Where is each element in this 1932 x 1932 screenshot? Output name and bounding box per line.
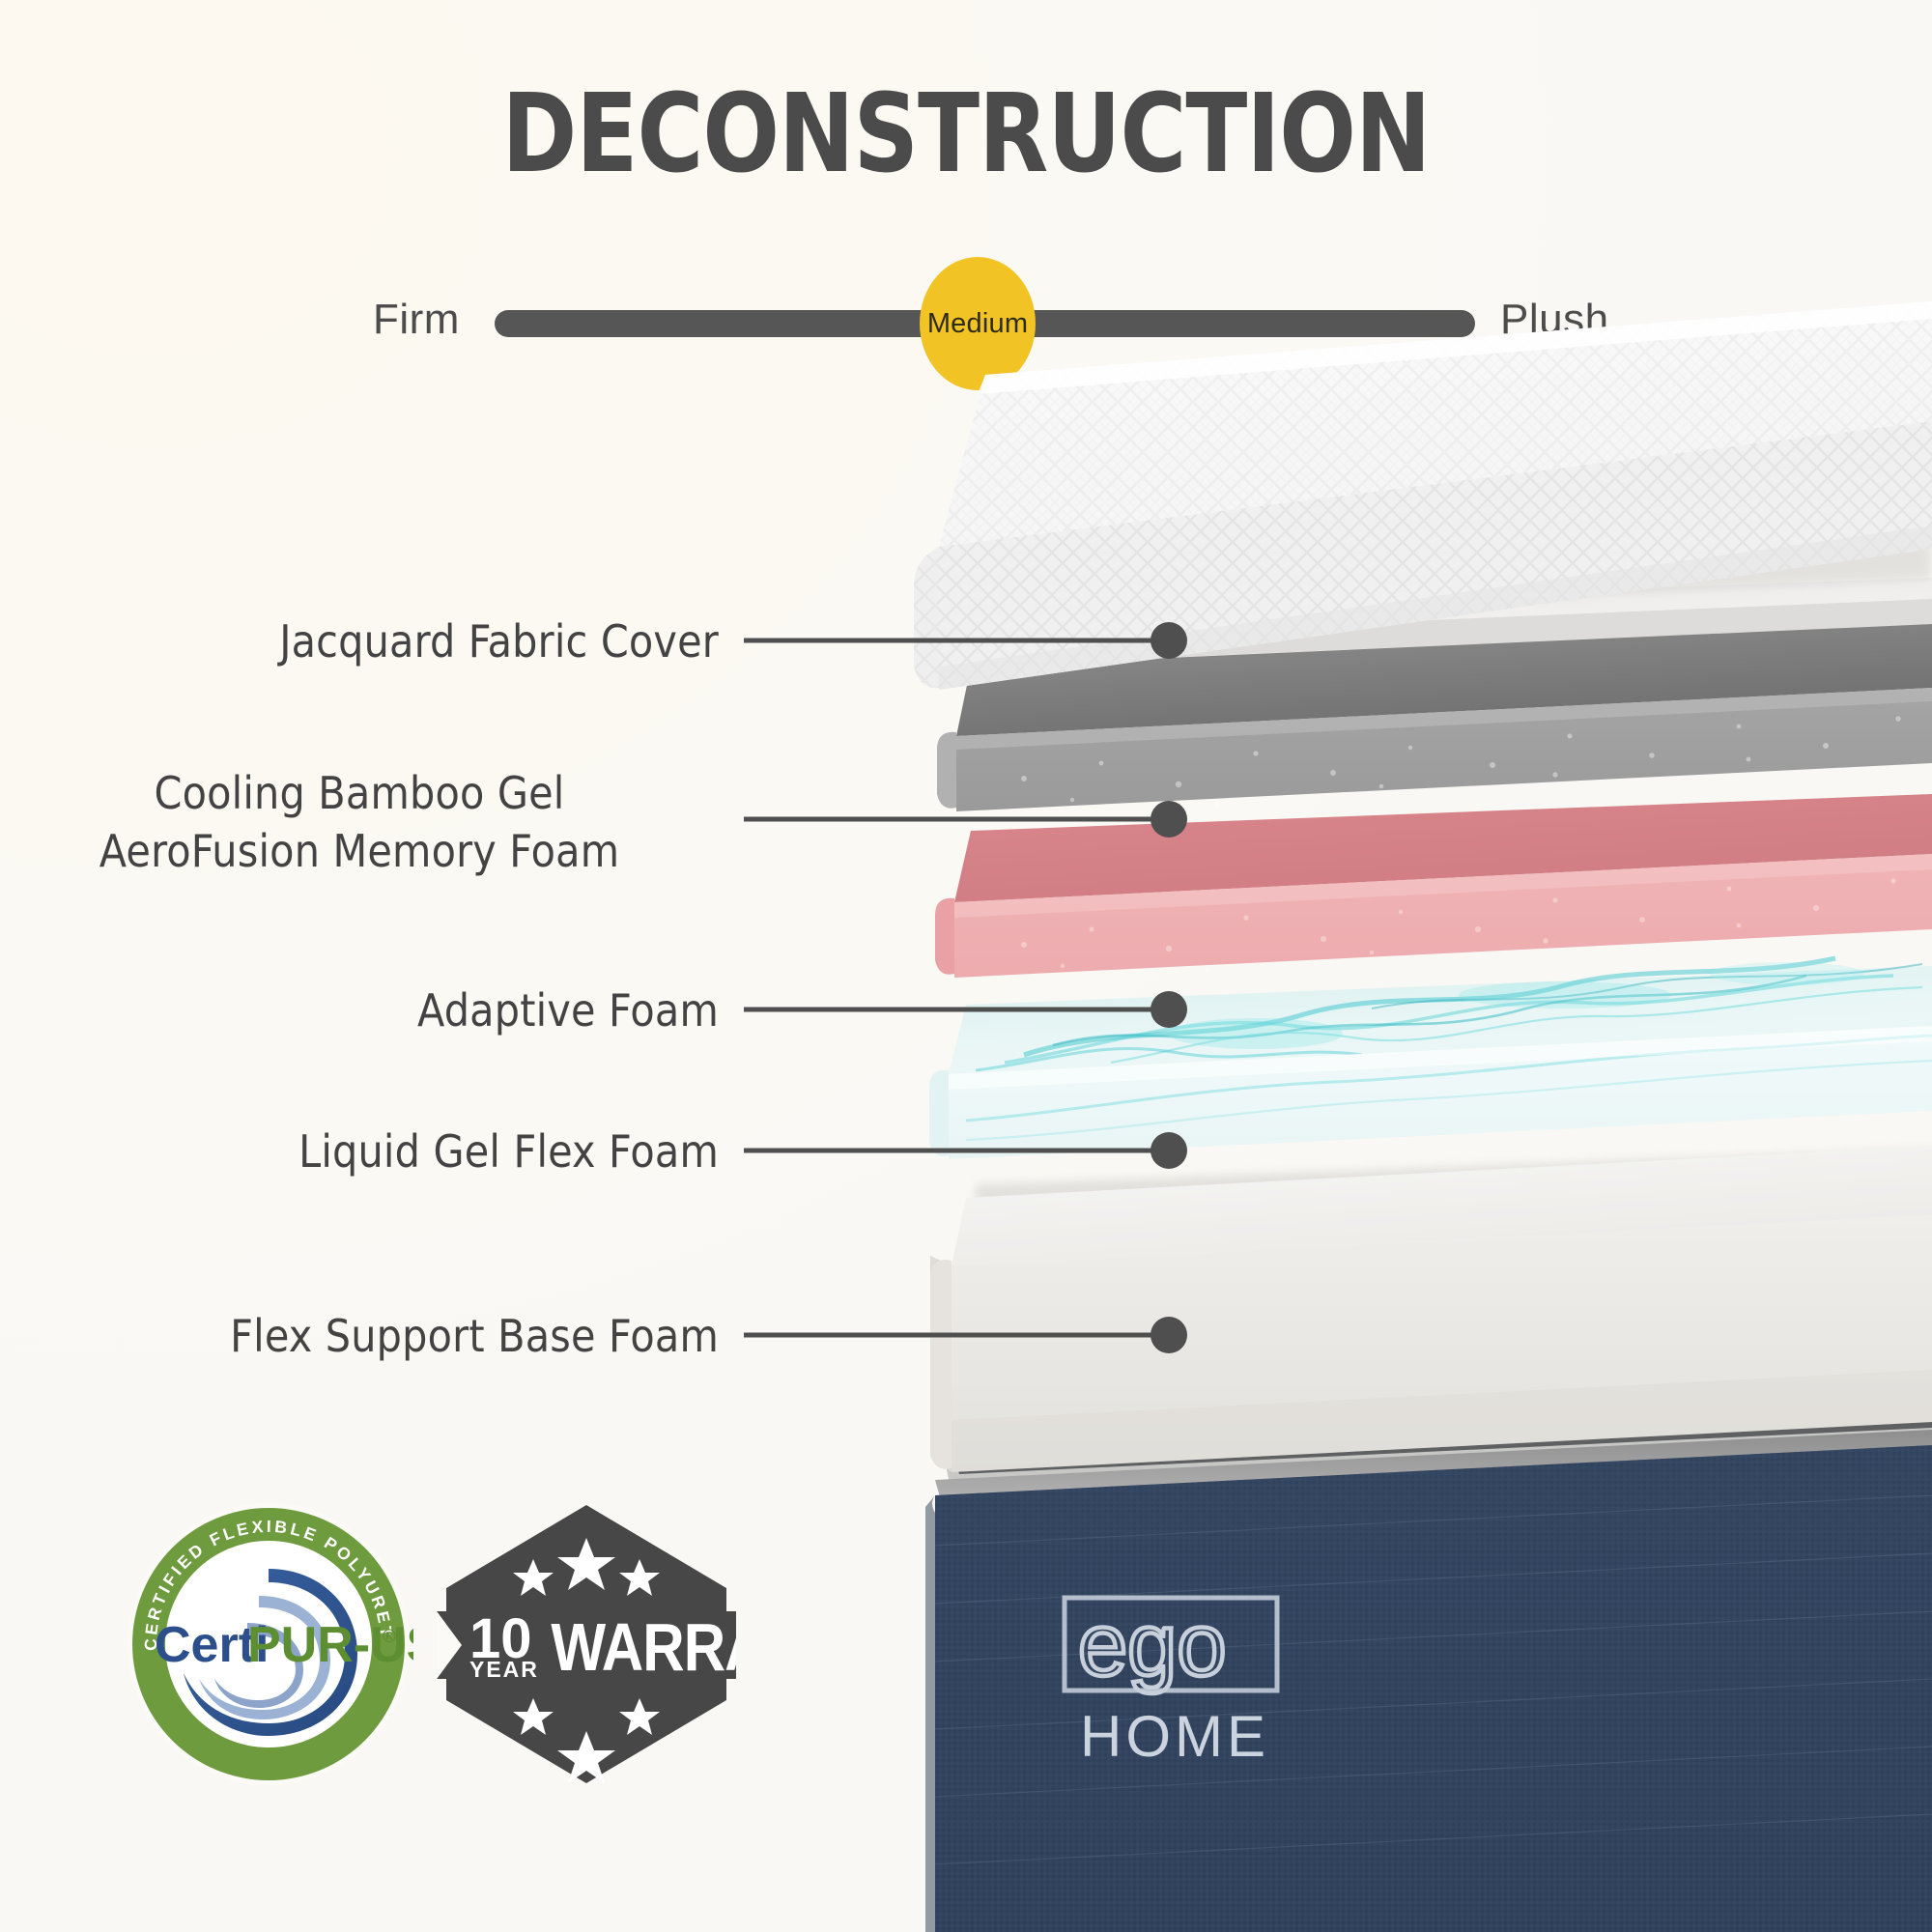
certipur-us-badge: CONTAINS CERTIFIED FLEXIBLE POLYURETHANE… (124, 1499, 413, 1789)
callout-connectors (744, 640, 1159, 1335)
callout-dot-3 (1151, 991, 1187, 1028)
warranty-period: YEAR (469, 1657, 539, 1682)
callout-dots (1151, 622, 1187, 1353)
firmness-label-firm: Firm (373, 296, 460, 344)
callout-dot-1 (1151, 622, 1187, 659)
callout-dot-2 (1151, 801, 1187, 838)
callout-dot-4 (1151, 1132, 1187, 1169)
page-title: DECONSTRUCTION (68, 71, 1864, 197)
warranty-badge: 10 YEAR WARRANTY (437, 1499, 736, 1789)
certipur-wordmark: Certi PUR-US ® (155, 1617, 413, 1673)
layer-name-1: Jacquard Fabric Cover (279, 616, 719, 668)
layer-name-2-line2: AeroFusion Memory Foam (0, 826, 719, 877)
firmness-scale-marker[interactable]: Medium (920, 257, 1036, 390)
mattress-layer-adaptive-foam (935, 794, 1932, 978)
layer-name-2: Cooling Bamboo Gel (0, 768, 719, 819)
firmness-scale: Firm Medium Plush (0, 286, 1932, 373)
brand-home-text: HOME (1080, 1704, 1269, 1766)
brand-ego-text: ego (1078, 1596, 1227, 1694)
layer-name-4: Liquid Gel Flex Foam (298, 1126, 719, 1178)
layer-name-5: Flex Support Base Foam (230, 1311, 719, 1362)
mattress-layer-liquid-gel-flex-foam (929, 958, 1932, 1159)
brand-logo-ego-home: ego HOME (1061, 1592, 1293, 1766)
layer-name-3: Adaptive Foam (417, 985, 719, 1037)
callout-dot-5 (1151, 1317, 1187, 1353)
mattress-layer-cooling-bamboo-gel-memory-foam (937, 578, 1932, 811)
firmness-marker-label: Medium (927, 308, 1028, 340)
firmness-label-plush: Plush (1500, 296, 1609, 344)
warranty-word: WARRANTY (551, 1609, 736, 1685)
mattress-layer-flex-support-base-foam (930, 1146, 1932, 1472)
certipur-registered-mark: ® (383, 1627, 396, 1647)
firmness-scale-track[interactable]: Medium (495, 310, 1475, 337)
